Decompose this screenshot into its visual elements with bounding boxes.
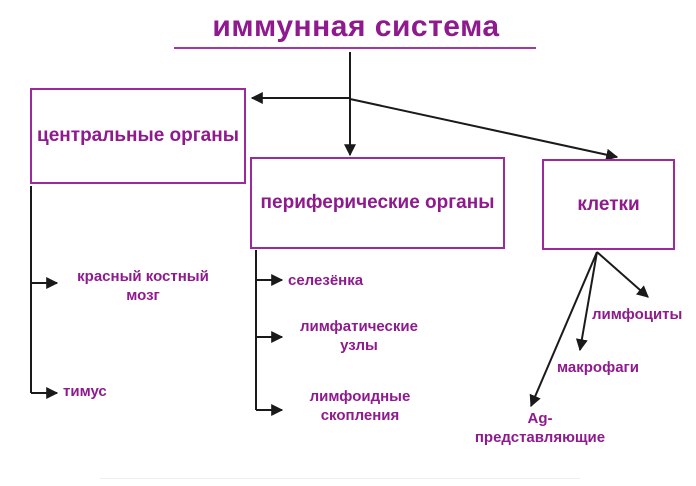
node-peripheral-organs[interactable]: периферические органы [250,157,505,249]
leaf-lymphoid-clusters: лимфоидные скопления [280,388,440,426]
leaf-thymus: тимус [63,383,107,402]
leaf-antigen-presenting-cells: Ag- представляющие [452,410,628,448]
node-cells[interactable]: клетки [542,159,675,250]
page-title: иммунная система [170,10,542,44]
leaf-lymphocytes: лимфоциты [592,306,682,325]
leaf-spleen: селезёнка [288,272,363,291]
leaf-lymph-nodes: лимфатические узлы [276,318,442,356]
diagram-canvas: иммунная система центральные органы [0,0,696,486]
leaf-red-bone-marrow: красный костный мозг [48,268,238,306]
title-underline [174,47,536,49]
leaf-macrophages: макрофаги [557,359,639,378]
footer-rule [100,478,580,479]
node-central-organs[interactable]: центральные органы [30,88,246,184]
